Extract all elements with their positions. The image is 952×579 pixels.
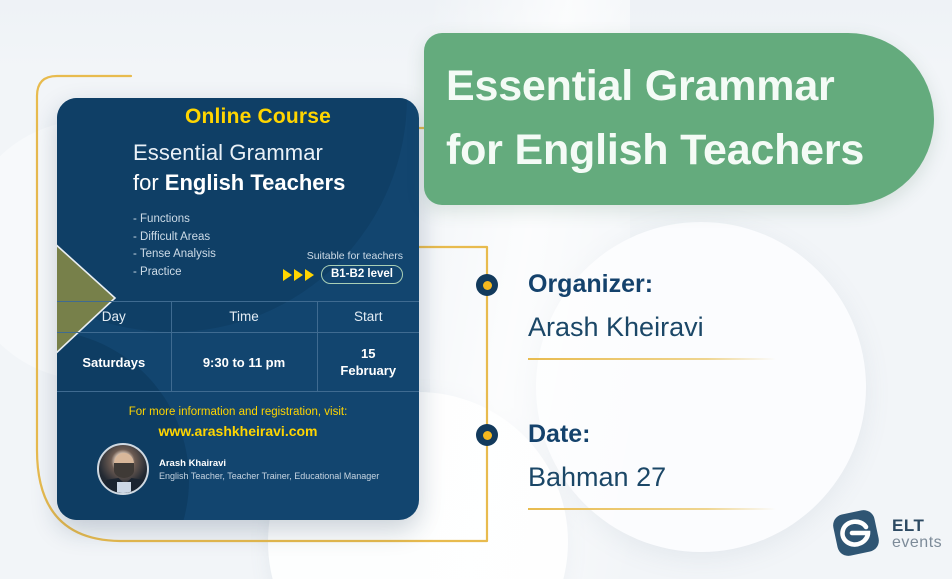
date-label: Date: bbox=[528, 420, 591, 449]
list-item: - Functions bbox=[133, 211, 216, 229]
list-item: - Practice bbox=[133, 264, 216, 282]
elt-e-swirl-icon bbox=[828, 508, 884, 560]
column-header-start: Start bbox=[317, 302, 419, 333]
organizer-label: Organizer: bbox=[528, 270, 653, 299]
poster-feature-list: - Functions - Difficult Areas - Tense An… bbox=[133, 211, 216, 281]
table-header-row: Day Time Start bbox=[57, 302, 419, 333]
poster-title-line1: Essential Grammar bbox=[133, 140, 323, 166]
logo-line2: events bbox=[892, 535, 942, 551]
ring-dot-icon bbox=[476, 424, 498, 446]
headline-line1: Essential Grammar bbox=[446, 54, 918, 118]
poster-kicker-wrap: Online Course bbox=[57, 104, 419, 130]
headline-banner: Essential Grammar for English Teachers bbox=[424, 33, 934, 205]
list-item: - Tense Analysis bbox=[133, 246, 216, 264]
list-item: - Difficult Areas bbox=[133, 229, 216, 247]
headline-line2: for English Teachers bbox=[446, 118, 918, 182]
cell-time: 9:30 to 11 pm bbox=[171, 333, 317, 392]
column-header-time: Time bbox=[171, 302, 317, 333]
table-row: Saturdays 9:30 to 11 pm 15 February bbox=[57, 333, 419, 392]
poster-title-line2-bold: English Teachers bbox=[165, 170, 346, 195]
cell-day: Saturdays bbox=[57, 333, 171, 392]
cell-start-day: 15 bbox=[361, 346, 375, 361]
cell-start: 15 February bbox=[317, 333, 419, 392]
schedule-table: Day Time Start Saturdays 9:30 to 11 pm 1… bbox=[57, 301, 419, 392]
poster-title-line2-plain: for bbox=[133, 170, 165, 195]
date-value: Bahman 27 bbox=[528, 462, 666, 493]
headline-text: Essential Grammar for English Teachers bbox=[446, 54, 918, 182]
poster-title-line2: for English Teachers bbox=[133, 170, 345, 196]
presenter-role: English Teacher, Teacher Trainer, Educat… bbox=[159, 471, 379, 481]
website-url[interactable]: www.arashkheiravi.com bbox=[57, 423, 419, 439]
cell-start-month: February bbox=[340, 363, 396, 378]
poster-canvas: Online Course Essential Grammar for Engl… bbox=[0, 0, 952, 579]
course-poster-card: Online Course Essential Grammar for Engl… bbox=[57, 98, 419, 520]
suitable-label: Suitable for teachers bbox=[283, 250, 403, 262]
presenter-avatar-icon bbox=[97, 443, 149, 495]
level-badge: B1-B2 level bbox=[321, 265, 403, 284]
logo-line1: ELT bbox=[892, 517, 942, 534]
ring-dot-icon bbox=[476, 274, 498, 296]
organizer-underline bbox=[528, 358, 776, 360]
elt-events-logo: ELT events bbox=[828, 508, 942, 560]
column-header-day: Day bbox=[57, 302, 171, 333]
poster-footer: For more information and registration, v… bbox=[57, 406, 419, 439]
suitability-block: Suitable for teachers B1-B2 level bbox=[283, 250, 403, 284]
presenter-block: Arash Khairavi English Teacher, Teacher … bbox=[97, 443, 379, 495]
date-underline bbox=[528, 508, 776, 510]
triple-triangle-icon bbox=[283, 269, 314, 281]
presenter-name: Arash Khairavi bbox=[159, 458, 379, 469]
registration-note: For more information and registration, v… bbox=[57, 406, 419, 418]
poster-kicker: Online Course bbox=[185, 104, 331, 130]
organizer-value: Arash Kheiravi bbox=[528, 312, 704, 343]
